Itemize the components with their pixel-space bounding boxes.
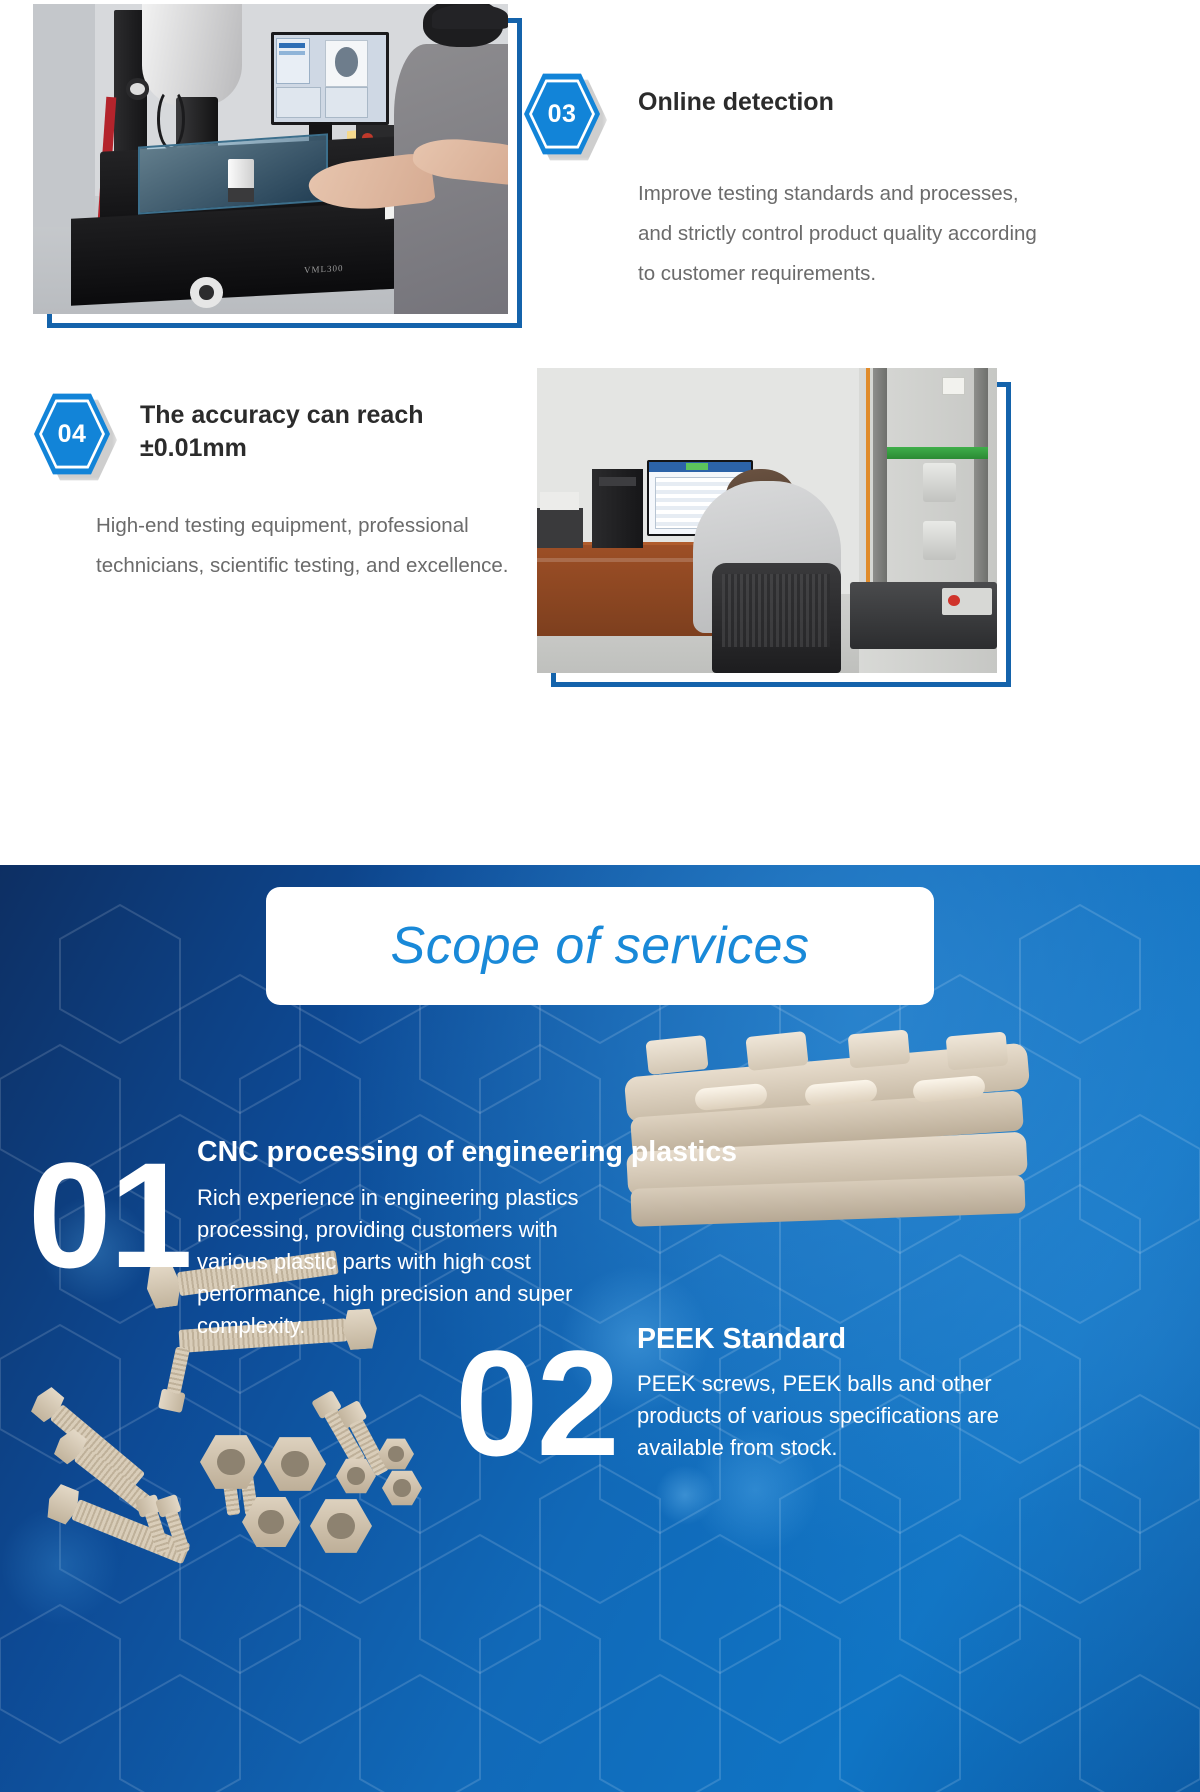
scope-title: Scope of services [391,916,810,976]
scope-item-cnc-processing: CNC processing of engineering plastics R… [197,1135,627,1342]
feature-title-accuracy: The accuracy can reach ±0.01mm [140,399,500,465]
badge-number-04: 04 [34,392,110,476]
features-section: VML300 03 Online detection Improve testi… [0,0,1200,865]
scope-title-peek: PEEK Standard [637,1322,1037,1356]
scope-title-cnc: CNC processing of engineering plastics [197,1135,627,1169]
photo-image-testing-lab [537,368,997,673]
vision-measuring-machine-illustration: VML300 [33,4,508,314]
peek-nut [310,1498,372,1554]
feature-body-accuracy: High-end testing equipment, professional… [96,506,526,586]
hexagon-badge-icon-03: 03 [524,72,600,156]
feature-body-online-detection: Improve testing standards and processes,… [638,174,1038,294]
scope-number-02: 02 [455,1328,618,1478]
scope-body-peek: PEEK screws, PEEK balls and other produc… [637,1368,1037,1464]
testing-lab-illustration [537,368,997,673]
badge-number-03: 03 [524,72,600,156]
bokeh-circle [655,1465,715,1525]
photo-online-detection: VML300 [33,4,508,314]
scope-number-01: 01 [28,1140,191,1290]
photo-testing-lab [537,368,997,673]
scope-title-card: Scope of services [266,887,934,1005]
peek-nut [382,1470,422,1506]
peek-nut [264,1436,326,1492]
hexagon-badge-icon-04: 04 [34,392,110,476]
feature-block-accuracy: 04 The accuracy can reach ±0.01mm High-e… [34,392,534,586]
scope-body-cnc: Rich experience in engineering plastics … [197,1182,627,1341]
photo-image-online-detection: VML300 [33,4,508,314]
feature-title-online-detection: Online detection [638,86,834,119]
scope-item-peek-standard: PEEK Standard PEEK screws, PEEK balls an… [637,1322,1037,1464]
feature-block-online-detection: 03 Online detection Improve testing stan… [524,72,1164,294]
